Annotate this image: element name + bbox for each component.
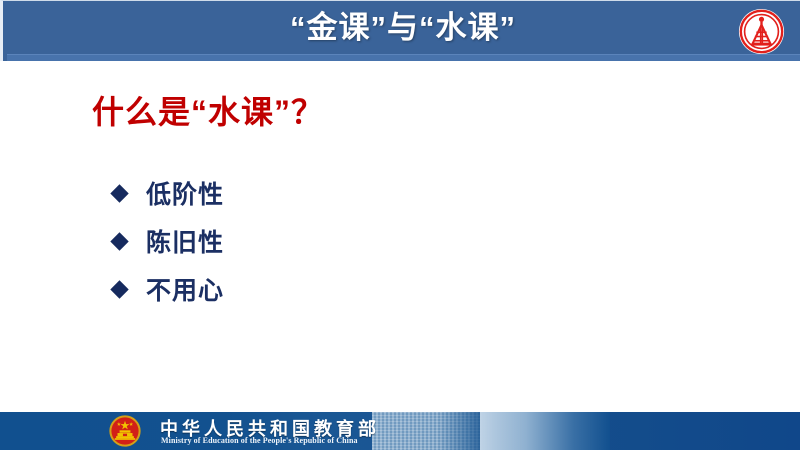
slide-title: “金课”与“水课” — [3, 5, 800, 50]
list-item-label: 陈旧性 — [146, 223, 224, 259]
diamond-bullet-icon — [110, 184, 128, 202]
derrick-tower-emblem-icon — [738, 8, 785, 55]
list-item: 不用心 — [110, 265, 224, 313]
china-national-emblem-icon — [108, 414, 142, 448]
bullet-list: 低阶性 陈旧性 不用心 — [110, 169, 224, 313]
list-item-label: 不用心 — [146, 271, 224, 307]
list-item: 低阶性 — [110, 169, 224, 217]
diamond-bullet-icon — [110, 280, 128, 298]
footer-gradient-fade — [480, 412, 610, 450]
content-heading: 什么是“水课”？ — [92, 87, 324, 133]
list-item: 陈旧性 — [110, 217, 224, 265]
header-accent-strip — [7, 54, 800, 61]
ministry-building-image — [372, 412, 492, 450]
slide-header-bar: “金课”与“水课” — [0, 0, 800, 61]
presentation-slide: “金课”与“水课” 什么是“水课”？ — [0, 0, 800, 450]
slide-content-area: 什么是“水课”？ 低阶性 陈旧性 不用心 — [0, 61, 800, 411]
slide-footer-banner: 中华人民共和国教育部 Ministry of Education of the … — [0, 410, 800, 450]
diamond-bullet-icon — [110, 232, 128, 250]
ministry-name-english: Ministry of Education of the People's Re… — [161, 436, 358, 445]
list-item-label: 低阶性 — [146, 175, 224, 211]
